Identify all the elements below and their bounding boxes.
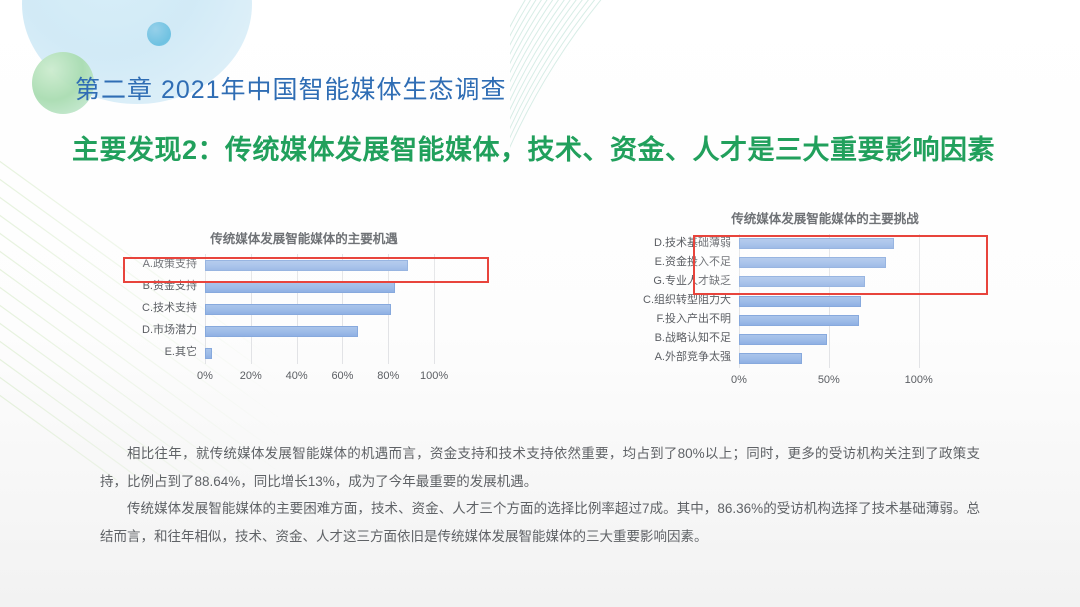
bar-7 [739,353,802,364]
decorative-blue-dot [147,22,171,46]
chart-challenges: 传统媒体发展智能媒体的主要挑战 D.技术基础薄弱E.资金投入不足G.专业人才缺乏… [655,208,995,398]
axis-tick: 0% [731,374,747,386]
bar-4 [739,296,861,307]
body-paragraph-1: 相比往年，就传统媒体发展智能媒体的机遇而言，资金支持和技术支持依然重要，均占到了… [100,440,980,495]
axis-tick: 80% [377,370,399,382]
category-label: E.其它 [117,347,197,358]
category-label: F.投入产出不明 [631,314,731,325]
chart-title-challenges: 传统媒体发展智能媒体的主要挑战 [655,208,995,227]
axis-tick: 0% [197,370,213,382]
bar-4 [205,326,358,337]
bar-3 [205,304,391,315]
axis-tick: 100% [420,370,448,382]
category-label: A.外部竞争太强 [631,352,731,363]
page-headline: 主要发现2：传统媒体发展智能媒体，技术、资金、人才是三大重要影响因素 [72,133,1017,168]
bar-6 [739,334,827,345]
body-copy: 相比往年，就传统媒体发展智能媒体的机遇而言，资金支持和技术支持依然重要，均占到了… [100,440,980,551]
axis-tick: 100% [905,374,933,386]
category-label: C.技术支持 [117,303,197,314]
chart-opportunities: 传统媒体发展智能媒体的主要机遇 A.政策支持B.资金支持C.技术支持D.市场潜力… [118,228,490,388]
body-paragraph-2: 传统媒体发展智能媒体的主要困难方面，技术、资金、人才三个方面的选择比例率超过7成… [100,495,980,550]
bar-5 [205,348,212,359]
axis-tick: 60% [331,370,353,382]
highlight-box-opportunities [123,257,489,283]
axis-tick: 50% [818,374,840,386]
category-label: B.战略认知不足 [631,333,731,344]
axis-tick: 20% [240,370,262,382]
highlight-box-challenges [693,235,988,295]
bar-5 [739,315,859,326]
category-label: D.市场潜力 [117,325,197,336]
bar-2 [205,282,395,293]
chart-title-opportunities: 传统媒体发展智能媒体的主要机遇 [118,228,490,247]
slide-canvas: 第二章 2021年中国智能媒体生态调查 主要发现2：传统媒体发展智能媒体，技术、… [0,0,1080,607]
category-label: C.组织转型阻力大 [631,295,731,306]
chapter-title: 第二章 2021年中国智能媒体生态调查 [75,70,507,106]
axis-tick: 40% [286,370,308,382]
